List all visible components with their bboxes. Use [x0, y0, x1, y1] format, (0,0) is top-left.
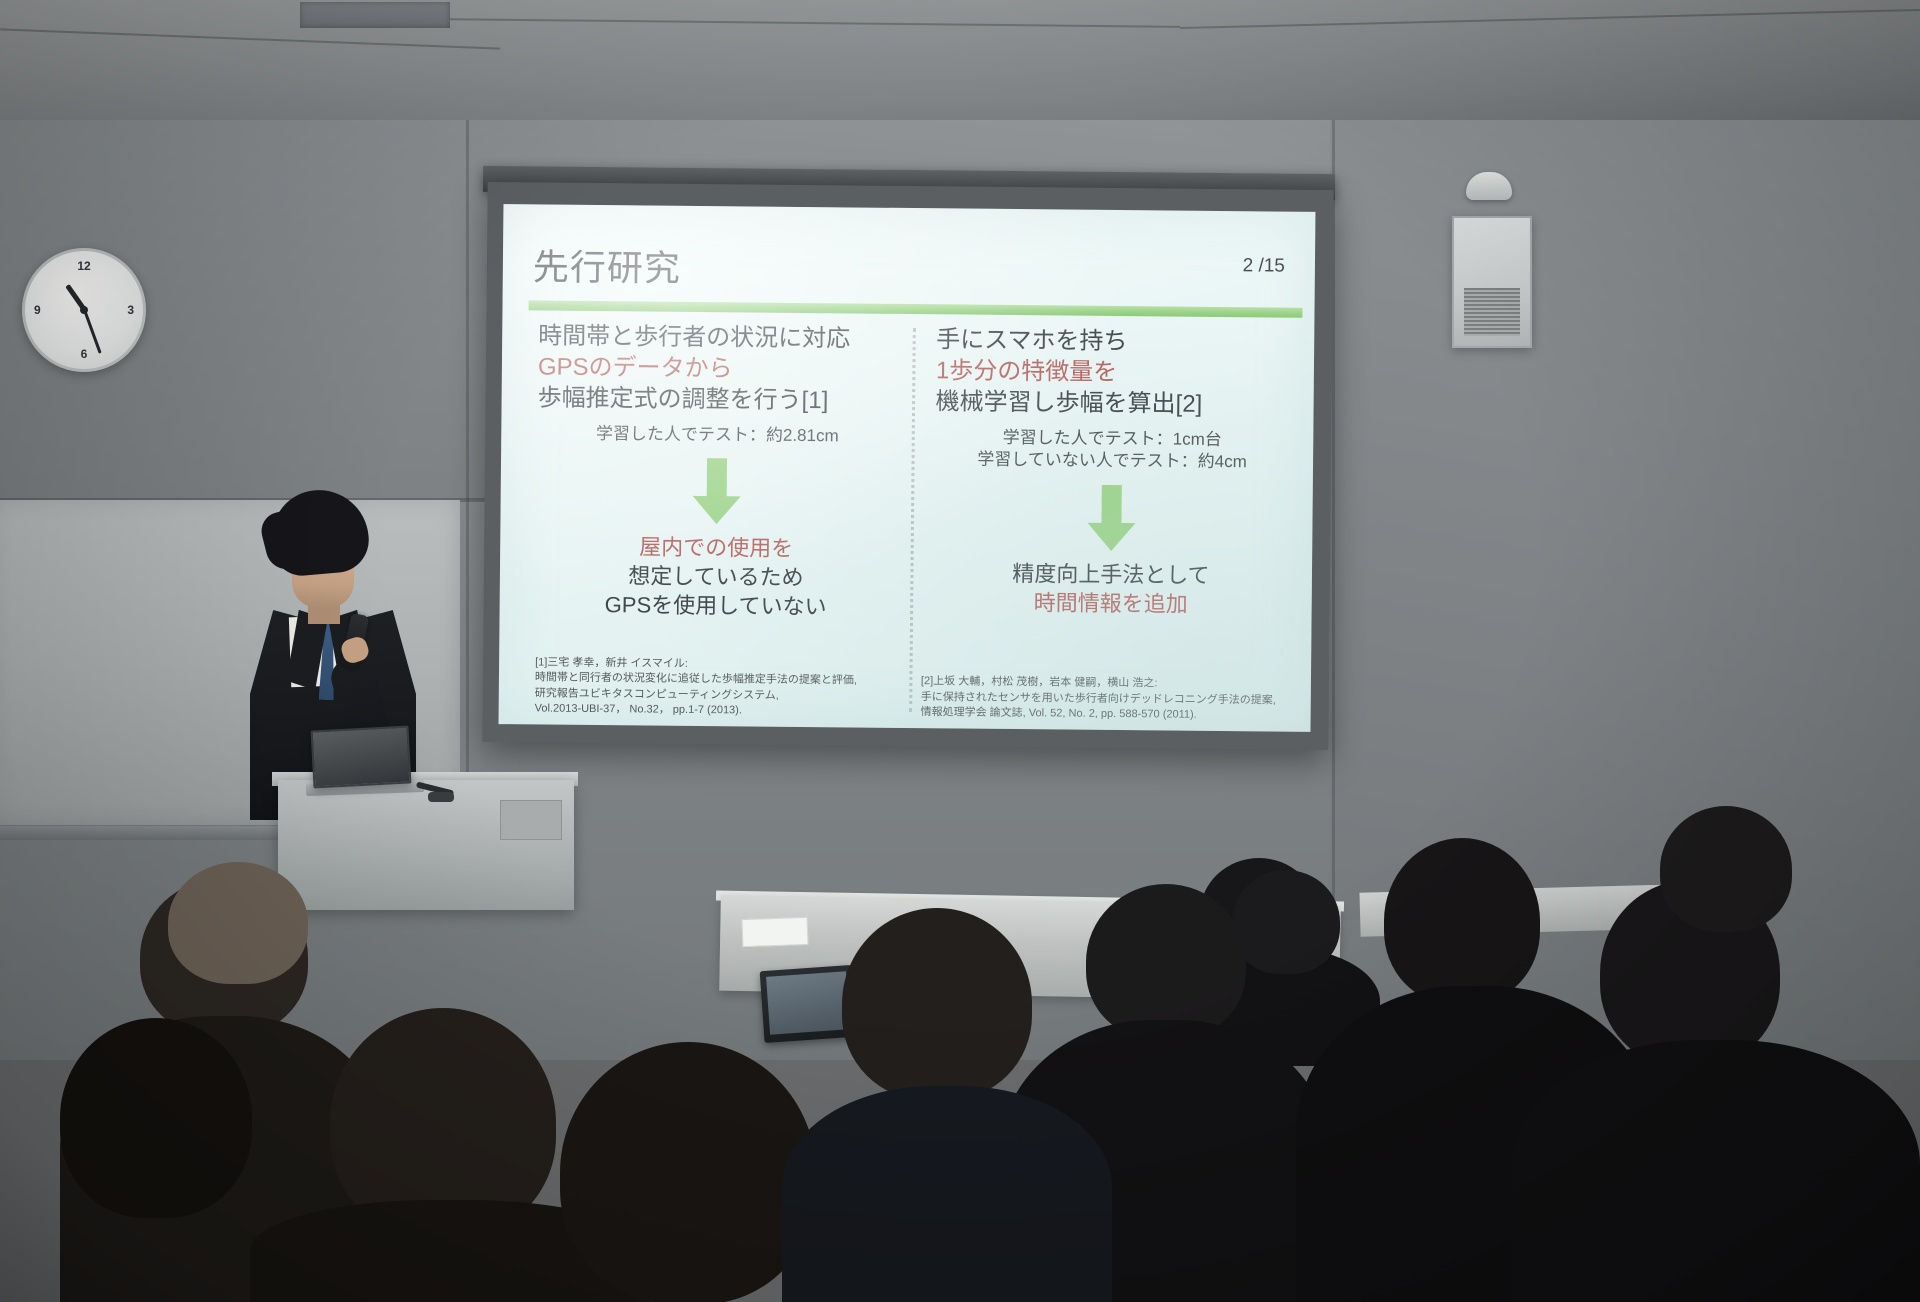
wall-speaker	[1452, 216, 1532, 348]
arrow-down-icon	[1083, 485, 1140, 554]
wall-clock: 12 3 6 9	[22, 248, 146, 372]
column-right-arrow-wrap	[934, 483, 1289, 554]
audience-head	[1232, 870, 1340, 974]
column-left-arrow-wrap	[536, 457, 897, 528]
audience-head	[842, 908, 1032, 1100]
clock-number-3: 3	[127, 303, 134, 317]
arrow-down-icon	[688, 458, 745, 527]
column-left-reference: [1]三宅 孝幸，新井 イスマイル: 時間帯と同行者の状況変化に追従した歩幅推定…	[535, 656, 902, 720]
clock-number-6: 6	[81, 347, 88, 361]
column-right-subnote: 学習した人でテスト：1cm台 学習していない人でテスト：約4cm	[935, 426, 1289, 475]
clock-number-12: 12	[77, 259, 90, 273]
audience-head	[1086, 884, 1246, 1040]
column-right-conclusion: 精度向上手法として時間情報を追加	[934, 559, 1289, 620]
audience-head	[1384, 838, 1540, 1004]
presentation-slide: 先行研究 2 /15 時間帯と歩行者の状況に対応GPSのデータから歩幅推定式の調…	[499, 204, 1316, 732]
clock-face: 12 3 6 9	[25, 251, 143, 369]
column-left-subnote: 学習した人でテスト：約2.81cm	[537, 422, 897, 448]
desk-paper	[742, 917, 809, 947]
column-right-headline: 手にスマホを持ち1歩分の特徴量を機械学習し歩幅を算出[2]	[935, 324, 1290, 421]
audience-laptop-screen	[766, 971, 850, 1034]
ceiling-vent	[300, 2, 450, 28]
audience-head	[1660, 806, 1792, 932]
microphone-stand-base	[428, 792, 454, 802]
speaker-grill	[1464, 288, 1520, 336]
audience-body	[1512, 1040, 1920, 1302]
audience-head	[60, 1018, 252, 1218]
clock-center-pin	[80, 306, 88, 314]
projection-screen: 先行研究 2 /15 時間帯と歩行者の状況に対応GPSのデータから歩幅推定式の調…	[482, 182, 1333, 750]
audience-body	[782, 1086, 1112, 1302]
slide-accent-rule	[528, 300, 1302, 317]
slide-column-right: 手にスマホを持ち1歩分の特徴量を機械学習し歩幅を算出[2] 学習した人でテスト：…	[911, 324, 1301, 726]
column-left-conclusion: 屋内での使用を想定しているためGPSを使用していない	[536, 533, 897, 622]
wall-right-panel	[1330, 120, 1920, 920]
column-right-reference: [2]上坂 大輔，村松 茂樹，岩本 健嗣，横山 浩之: 手に保持されたセンサを用…	[921, 675, 1287, 724]
presenter-laptop-screen	[311, 725, 412, 788]
slide-title: 先行研究	[533, 238, 682, 291]
wall-seam	[466, 120, 469, 820]
audience-head	[168, 862, 308, 984]
clock-number-9: 9	[34, 303, 41, 317]
slide-page-number: 2 /15	[1243, 255, 1285, 277]
slide-column-left: 時間帯と歩行者の状況に対応GPSのデータから歩幅推定式の調整を行う[1] 学習し…	[525, 320, 915, 722]
ceiling	[0, 0, 1920, 132]
audience-head	[560, 1042, 816, 1302]
lecture-hall-photo: 12 3 6 9 先行研究 2 /15 時間帯と歩行者の状況に対応GPSのデータ…	[0, 0, 1920, 1302]
slide-columns: 時間帯と歩行者の状況に対応GPSのデータから歩幅推定式の調整を行う[1] 学習し…	[525, 320, 1301, 725]
podium-control-panel	[500, 800, 562, 840]
column-left-headline: 時間帯と歩行者の状況に対応GPSのデータから歩幅推定式の調整を行う[1]	[537, 320, 898, 417]
